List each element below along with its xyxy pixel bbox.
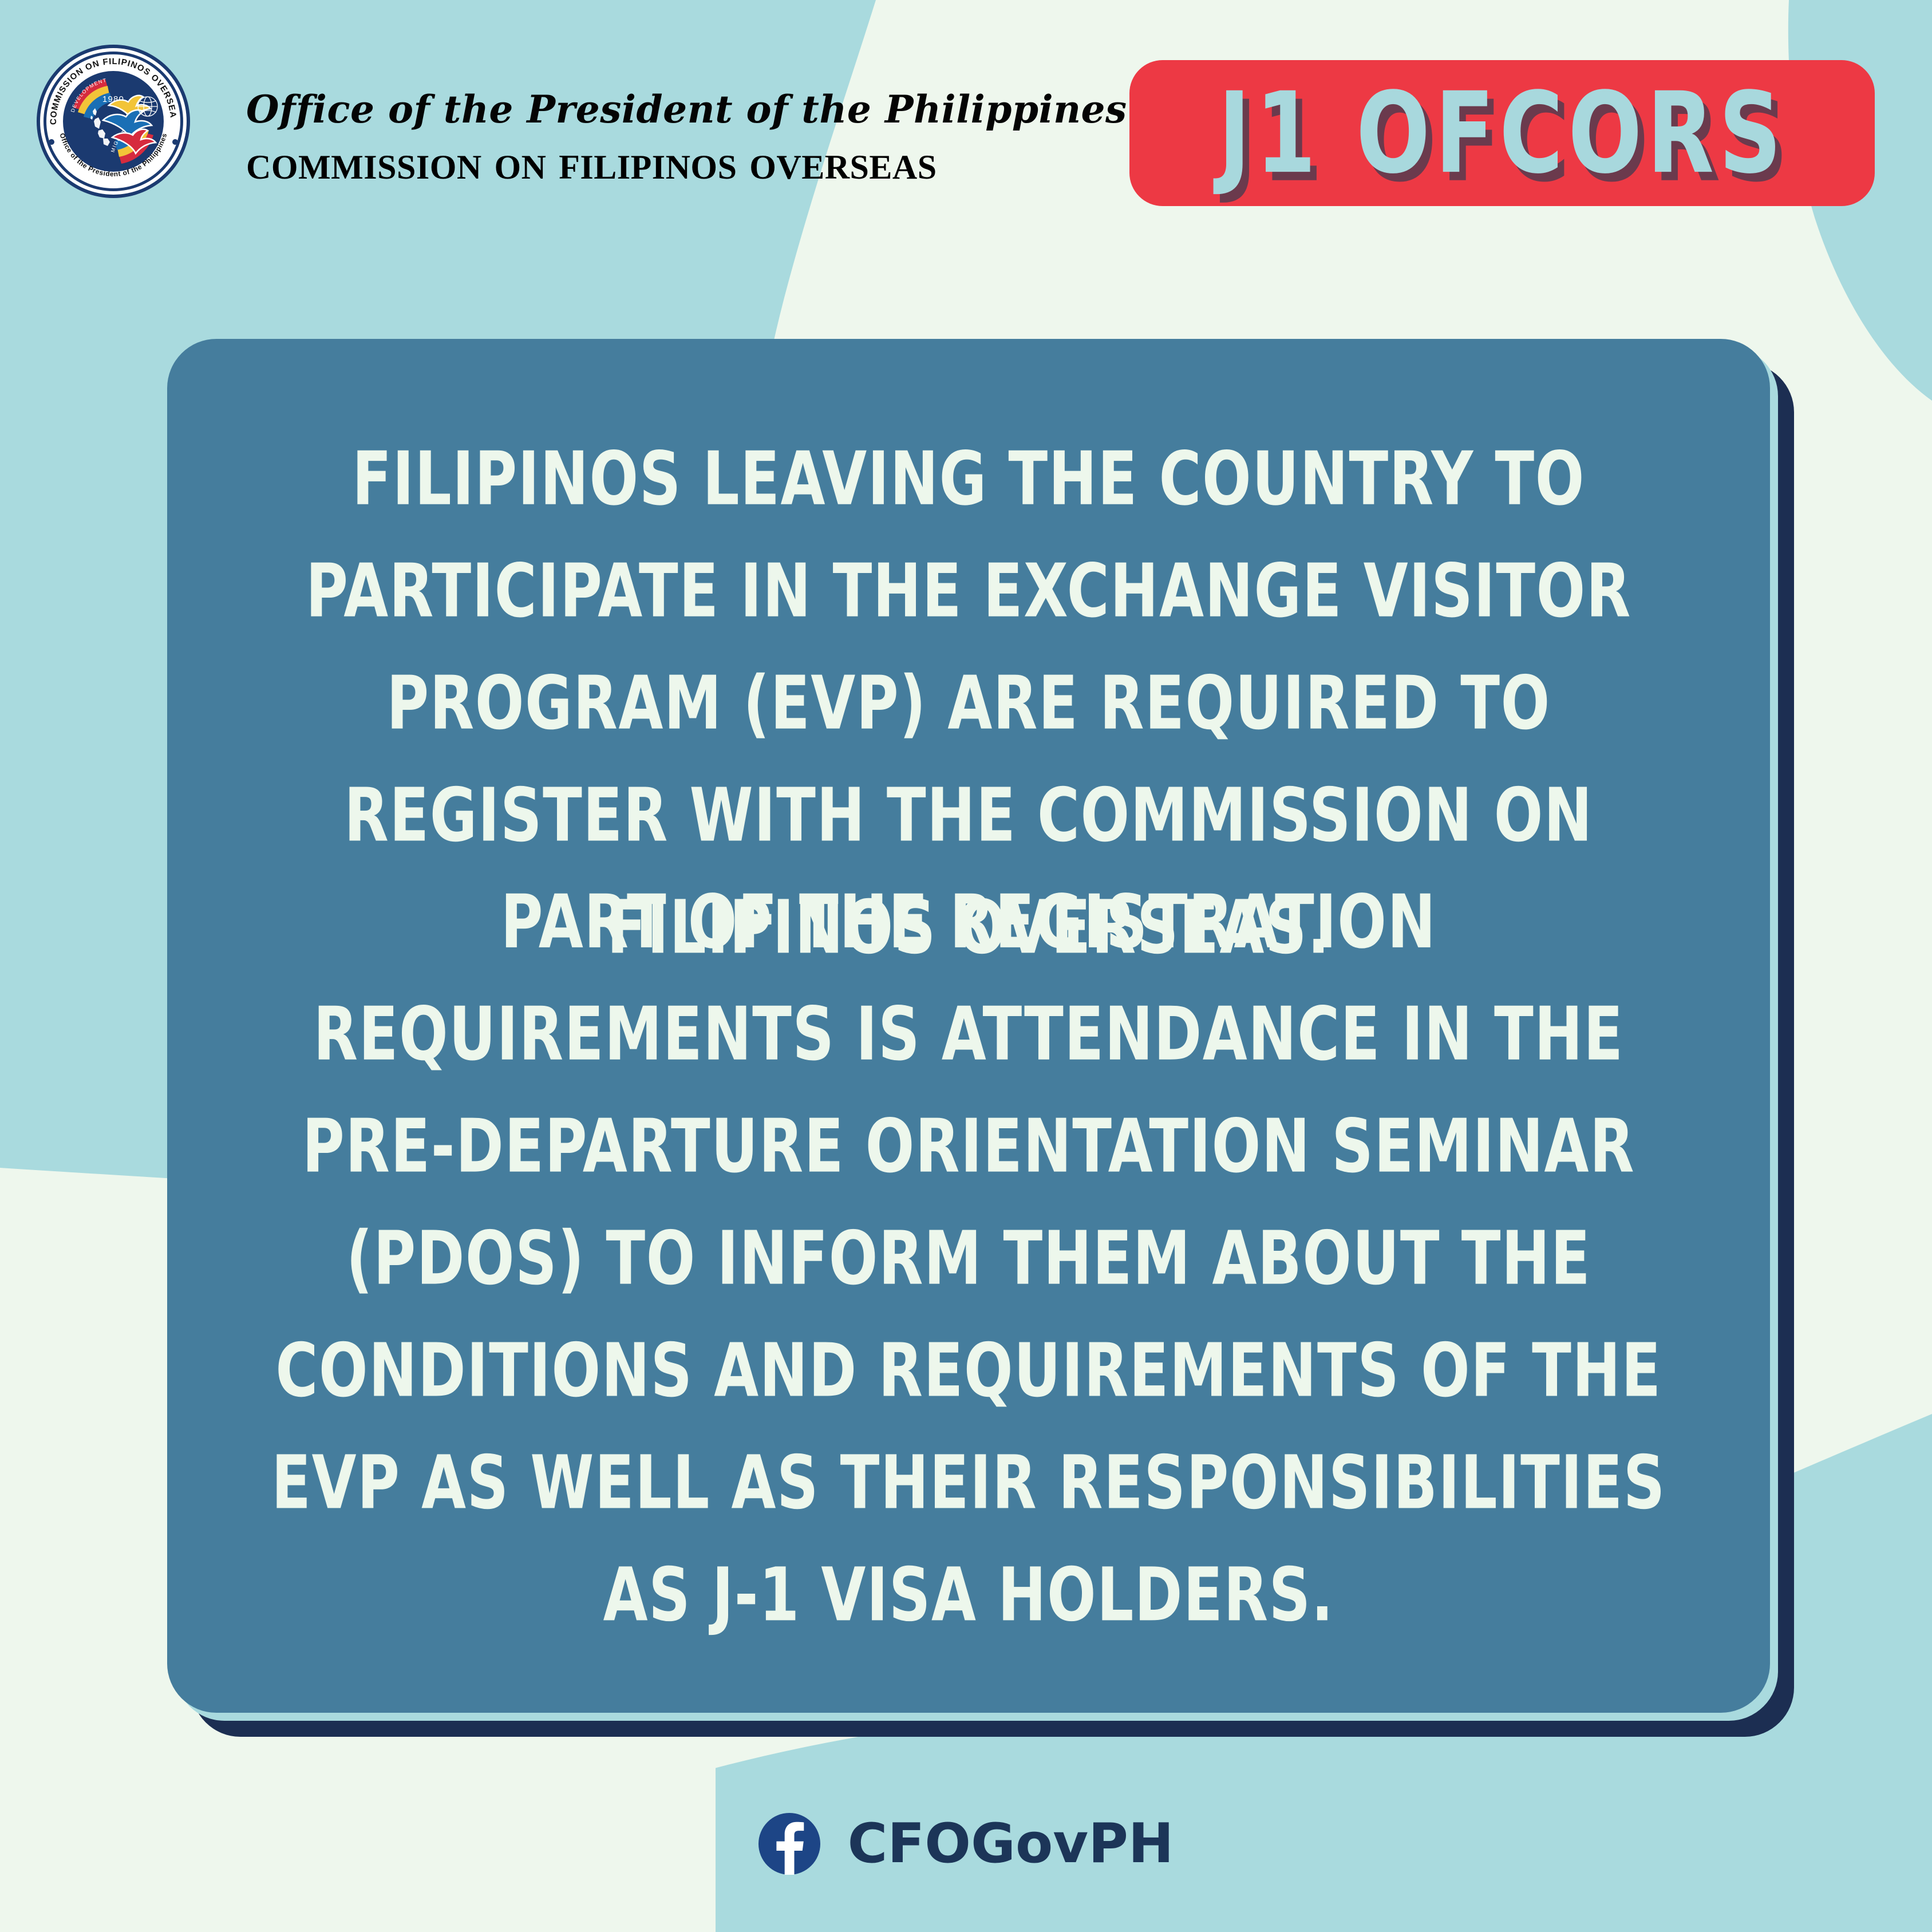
j1-ofcors-badge: J1 OFCORS (1129, 60, 1875, 206)
facebook-icon[interactable] (758, 1813, 820, 1875)
footer: CFOGovPH (0, 1813, 1932, 1875)
content-card-wrapper: Filipinos leaving the country to partici… (167, 339, 1770, 1713)
badge-label: J1 OFCORS (1218, 77, 1787, 189)
commission-on-filipinos-overseas-line: Commission on Filipinos Overseas (246, 139, 1127, 187)
poster-canvas: 1980 DEVELOPMENT MIGRATION COMMISSION ON… (0, 0, 1932, 1932)
office-of-president-line: Office of the President of the Philippin… (246, 90, 1127, 128)
facebook-handle[interactable]: CFOGovPH (848, 1817, 1174, 1871)
cfo-seal-icon: 1980 DEVELOPMENT MIGRATION COMMISSION ON… (35, 44, 191, 199)
paragraph-2: Part of the registration requirements is… (241, 866, 1696, 1651)
org-name-block: Office of the President of the Philippin… (246, 90, 1127, 187)
content-card: Filipinos leaving the country to partici… (167, 339, 1770, 1713)
